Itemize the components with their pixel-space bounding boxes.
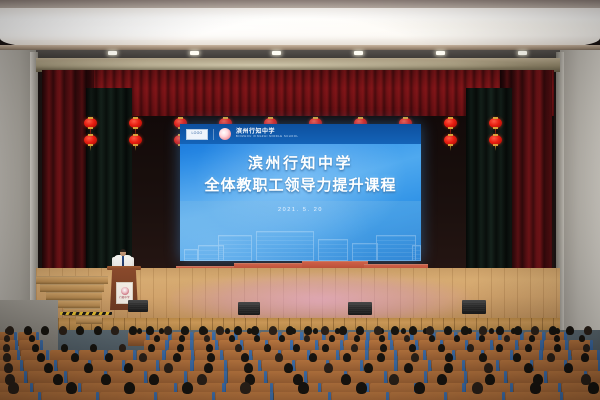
audience-head	[71, 353, 79, 362]
screen-header-divider	[213, 129, 214, 140]
lantern-icon	[444, 118, 457, 128]
stage-monitor	[238, 302, 260, 315]
auditorium-photo: LOGO 滨州行知中学 BINZHOU XINGZHI MIDDLE SCHOO…	[0, 0, 600, 400]
stage-step	[36, 276, 108, 284]
audience-head	[3, 344, 10, 352]
lantern-icon	[129, 118, 142, 128]
lantern-icon	[129, 135, 142, 145]
stage-monitor	[128, 300, 148, 312]
audience-head	[269, 326, 277, 335]
audience-head	[364, 363, 373, 373]
audience-head	[129, 326, 137, 335]
audience-head	[566, 326, 574, 335]
audience-head	[389, 374, 399, 385]
audience-head	[379, 335, 385, 342]
lantern-string	[83, 118, 97, 151]
audience-head	[479, 335, 485, 342]
audience-head	[584, 326, 592, 335]
audience-head	[309, 353, 317, 362]
audience-head	[216, 326, 224, 335]
audience-head	[354, 335, 360, 342]
audience-head	[444, 326, 452, 335]
audience-head	[204, 363, 213, 373]
audience-head	[554, 335, 560, 342]
school-name-en: BINZHOU XINGZHI MIDDLE SCHOOL	[236, 136, 299, 139]
audience-head	[293, 344, 300, 352]
seat-frame	[270, 392, 273, 400]
audience-head	[41, 326, 49, 335]
audience-head	[32, 344, 39, 352]
audience-head	[324, 363, 333, 373]
audience-head	[445, 353, 453, 362]
audience-head	[29, 335, 35, 342]
audience-head	[547, 353, 555, 362]
downlight	[436, 51, 445, 55]
lantern-icon	[444, 135, 457, 145]
ceiling-light-glow	[0, 10, 600, 40]
audience-head	[351, 344, 358, 352]
audience-head	[119, 344, 126, 352]
audience-head	[139, 353, 147, 362]
lantern-icon	[84, 135, 97, 145]
lantern-icon	[489, 118, 502, 128]
audience-head	[380, 344, 387, 352]
audience-head	[411, 353, 419, 362]
audience-head	[484, 363, 493, 373]
audience-head	[489, 328, 494, 334]
audience-head	[321, 326, 329, 335]
led-screen: LOGO 滨州行知中学 BINZHOU XINGZHI MIDDLE SCHOO…	[180, 124, 421, 261]
audience-head	[124, 363, 133, 373]
speaker-head	[120, 249, 126, 256]
seat-frame	[96, 392, 99, 400]
audience-head	[182, 382, 193, 394]
audience-head	[59, 326, 67, 335]
school-crest-icon	[121, 287, 129, 295]
audience-head	[404, 335, 410, 342]
audience-head	[401, 328, 406, 334]
seat-frame	[212, 392, 215, 400]
audience-head	[579, 335, 585, 342]
audience-head	[225, 328, 230, 334]
audience-head	[549, 326, 557, 335]
audience-head	[275, 353, 283, 362]
stage-step	[40, 284, 104, 292]
audience-head	[339, 326, 347, 335]
audience-head	[513, 353, 521, 362]
audience-head	[514, 326, 522, 335]
screen-title-sub: 全体教职工领导力提升课程	[204, 176, 396, 195]
audience-head	[304, 326, 312, 335]
lantern-string	[128, 118, 142, 151]
audience-head	[322, 344, 329, 352]
seat-frame	[560, 392, 563, 400]
audience-head	[124, 382, 135, 394]
audience-head	[564, 363, 573, 373]
lantern-string	[488, 118, 502, 151]
seat-frame	[502, 392, 505, 400]
hazard-tape-icon	[60, 312, 112, 315]
audience-head	[111, 326, 119, 335]
audience-head	[343, 353, 351, 362]
stage-step	[46, 292, 102, 300]
audience-head	[286, 326, 294, 335]
audience-head	[467, 344, 474, 352]
audience-head	[479, 326, 487, 335]
audience-head	[504, 335, 510, 342]
audience-head	[159, 328, 164, 334]
audience-head	[298, 382, 309, 394]
audience-head	[84, 363, 93, 373]
audience-head	[496, 344, 503, 352]
audience-head	[197, 374, 207, 385]
screen-title-block: 滨州行知中学 全体教职工领导力提升课程 2021. 5. 20	[180, 154, 421, 213]
downlight	[518, 51, 527, 55]
lantern-icon	[84, 118, 97, 128]
audience-head	[240, 382, 251, 394]
audience-head	[529, 335, 535, 342]
seat-frame	[386, 392, 389, 400]
audience-head	[173, 353, 181, 362]
audience-head	[94, 326, 102, 335]
audience-head	[44, 363, 53, 373]
audience-head	[583, 344, 590, 352]
audience-head	[429, 335, 435, 342]
audience-head	[531, 326, 539, 335]
stage-monitor	[462, 300, 486, 314]
audience-head	[391, 326, 399, 335]
audience-head	[356, 382, 367, 394]
downlight	[354, 51, 363, 55]
audience-head	[404, 363, 413, 373]
stage-step	[76, 316, 102, 324]
audience-head	[154, 335, 160, 342]
audience-head	[581, 353, 589, 362]
lantern-string	[443, 118, 457, 151]
audience-head	[76, 326, 84, 335]
downlight	[190, 51, 199, 55]
audience-head	[525, 344, 532, 352]
podium-banner-text: 行知中学	[117, 296, 132, 299]
audience-head	[438, 344, 445, 352]
audience-head	[313, 328, 318, 334]
audience-head	[264, 344, 271, 352]
audience-head	[437, 374, 447, 385]
audience-head	[177, 344, 184, 352]
screen-date: 2021. 5. 20	[278, 207, 323, 213]
audience-head	[206, 344, 213, 352]
audience-head	[8, 382, 19, 394]
audience-head	[554, 344, 561, 352]
audience-head	[235, 344, 242, 352]
audience-head	[496, 326, 504, 335]
seat-frame	[444, 392, 447, 400]
audience-head	[179, 335, 185, 342]
audience-head	[24, 326, 32, 335]
seat-frame	[154, 392, 157, 400]
audience-head	[4, 335, 10, 342]
audience-head	[472, 382, 483, 394]
audience-head	[3, 353, 11, 362]
stage-spotlight	[170, 272, 470, 320]
audience-head	[90, 344, 97, 352]
screen-title-main: 滨州行知中学	[248, 154, 353, 173]
screen-header-school: 滨州行知中学 BINZHOU XINGZHI MIDDLE SCHOOL	[236, 129, 299, 139]
audience-head	[329, 335, 335, 342]
audience-head	[66, 382, 77, 394]
downlight	[272, 51, 281, 55]
seat-frame	[328, 392, 331, 400]
audience-head	[356, 326, 364, 335]
audience-head	[454, 335, 460, 342]
audience-head	[229, 335, 235, 342]
audience-head	[377, 353, 385, 362]
lantern-icon	[489, 135, 502, 145]
audience-head	[279, 335, 285, 342]
stage-monitor	[348, 302, 372, 315]
audience-head	[244, 363, 253, 373]
audience-head	[37, 353, 45, 362]
curtain-right-dark	[466, 88, 512, 280]
audience-head	[53, 374, 63, 385]
audience-seat	[0, 392, 39, 400]
audience-head	[199, 326, 207, 335]
audience-head	[149, 374, 159, 385]
audience-head	[341, 374, 351, 385]
side-wall-right	[560, 50, 600, 350]
audience-head	[304, 335, 310, 342]
stage-step	[54, 300, 100, 308]
audience-head	[4, 363, 13, 373]
audience-head	[588, 382, 599, 394]
screen-header-badge: LOGO	[186, 129, 208, 140]
audience-head	[251, 326, 259, 335]
audience-head	[479, 353, 487, 362]
screen-header-bar: LOGO 滨州行知中学 BINZHOU XINGZHI MIDDLE SCHOO…	[180, 124, 421, 144]
audience-head	[61, 344, 68, 352]
audience-head	[137, 328, 142, 334]
audience-head	[181, 326, 189, 335]
downlight	[108, 51, 117, 55]
audience-head	[207, 353, 215, 362]
audience-head	[254, 335, 260, 342]
audience-head	[374, 326, 382, 335]
audience-head	[164, 326, 172, 335]
audience-head	[409, 326, 417, 335]
seat-frame	[38, 392, 41, 400]
audience-head	[204, 335, 210, 342]
audience-head	[414, 382, 425, 394]
audience-head	[284, 363, 293, 373]
audience-head	[409, 344, 416, 352]
audience-head	[241, 353, 249, 362]
audience-head	[148, 344, 155, 352]
audience-head	[426, 326, 434, 335]
audience-head	[101, 374, 111, 385]
school-logo-icon	[219, 128, 231, 140]
audience-head	[524, 363, 533, 373]
audience-head	[105, 353, 113, 362]
audience-head	[234, 326, 242, 335]
audience-head	[146, 326, 154, 335]
audience-head	[164, 363, 173, 373]
audience-head	[444, 363, 453, 373]
audience-head	[6, 326, 14, 335]
audience-head	[485, 374, 495, 385]
audience-head	[461, 326, 469, 335]
audience-head	[530, 382, 541, 394]
screen-header-badge-text: LOGO	[192, 132, 203, 136]
